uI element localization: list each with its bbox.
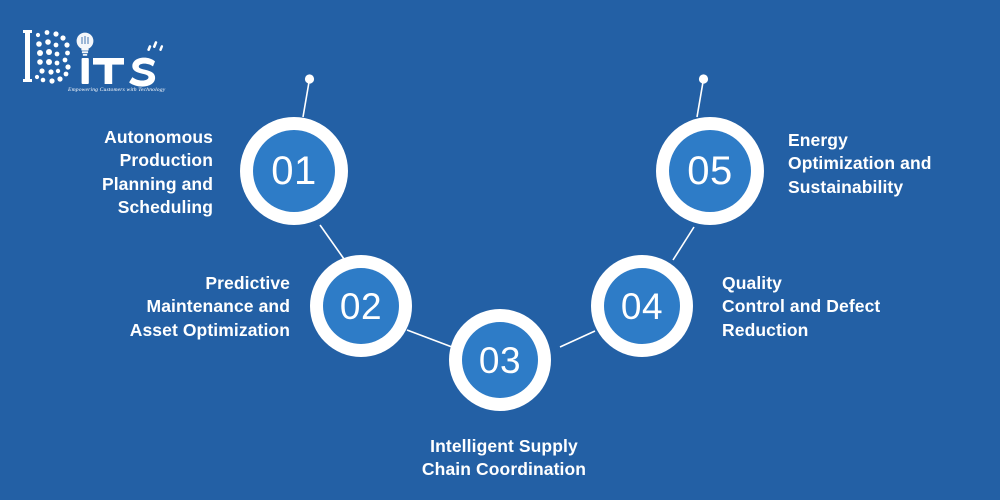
stem-line-01 — [303, 82, 309, 117]
step-label-01: Autonomous Production Planning and Sched… — [3, 126, 213, 219]
step-number-05: 05 — [687, 151, 733, 191]
step-number-02: 02 — [340, 288, 382, 325]
link-01-02 — [320, 225, 344, 259]
step-node-05[interactable]: 05 — [669, 130, 751, 212]
step-label-05: Energy Optimization and Sustainability — [788, 129, 998, 199]
link-04-05 — [673, 227, 694, 260]
step-label-02: Predictive Maintenance and Asset Optimiz… — [60, 272, 290, 342]
stem-dot-05 — [699, 74, 708, 83]
step-number-01: 01 — [271, 151, 317, 191]
bits-logo[interactable]: Empowering Customers with Technology — [22, 28, 167, 94]
link-03-04 — [560, 331, 595, 347]
step-label-04: Quality Control and Defect Reduction — [722, 272, 952, 342]
link-02-03 — [407, 330, 452, 347]
stem-dot-01 — [305, 74, 314, 83]
stem-line-05 — [697, 82, 703, 117]
step-node-02[interactable]: 02 — [323, 268, 399, 344]
step-node-01[interactable]: 01 — [253, 130, 335, 212]
step-label-03: Intelligent Supply Chain Coordination — [384, 435, 624, 482]
infographic-canvas: Empowering Customers with Technology 01 … — [0, 0, 1000, 500]
step-number-03: 03 — [479, 342, 521, 379]
logo-tagline-text: Empowering Customers with Technology — [67, 87, 166, 93]
step-node-03[interactable]: 03 — [462, 322, 538, 398]
step-node-04[interactable]: 04 — [604, 268, 680, 344]
step-number-04: 04 — [621, 288, 663, 325]
